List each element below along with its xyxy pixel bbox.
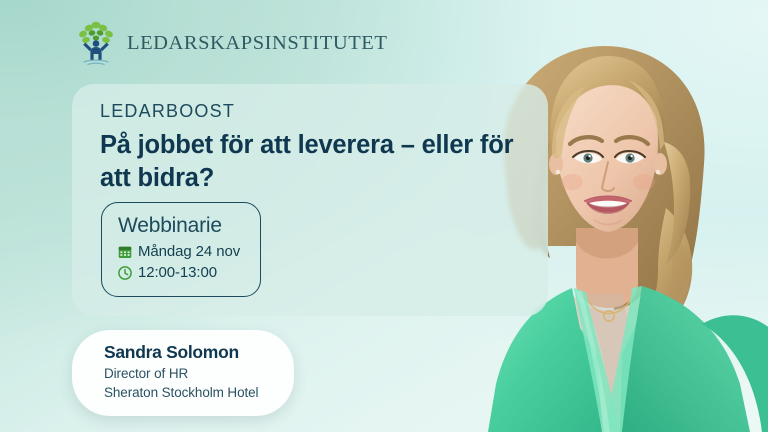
tree-person-logo-icon (74, 20, 118, 66)
speaker-card: Sandra Solomon Director of HR Sheraton S… (72, 330, 294, 416)
page-title: På jobbet för att leverera – eller för a… (100, 129, 520, 194)
speaker-role: Director of HR (104, 364, 274, 384)
webinar-time: 12:00-13:00 (138, 262, 217, 283)
webinar-info-card: LEDARBOOST På jobbet för att leverera – … (72, 84, 548, 316)
clock-icon (118, 266, 132, 280)
webinar-details-box: Webbinarie (101, 202, 261, 297)
webinar-promo-banner: LEDARSKAPSINSTITUTET (0, 0, 768, 432)
webinar-date-row: Måndag 24 nov (118, 241, 244, 262)
brand-logo[interactable]: LEDARSKAPSINSTITUTET (74, 20, 387, 66)
brand-wordmark: LEDARSKAPSINSTITUTET (127, 32, 387, 55)
webinar-date: Måndag 24 nov (138, 241, 240, 262)
speaker-name: Sandra Solomon (104, 342, 274, 364)
webinar-type-label: Webbinarie (118, 214, 244, 238)
eyebrow-label: LEDARBOOST (100, 101, 235, 122)
webinar-time-row: 12:00-13:00 (118, 262, 244, 283)
calendar-icon (118, 245, 132, 259)
speaker-company: Sheraton Stockholm Hotel (104, 383, 274, 403)
